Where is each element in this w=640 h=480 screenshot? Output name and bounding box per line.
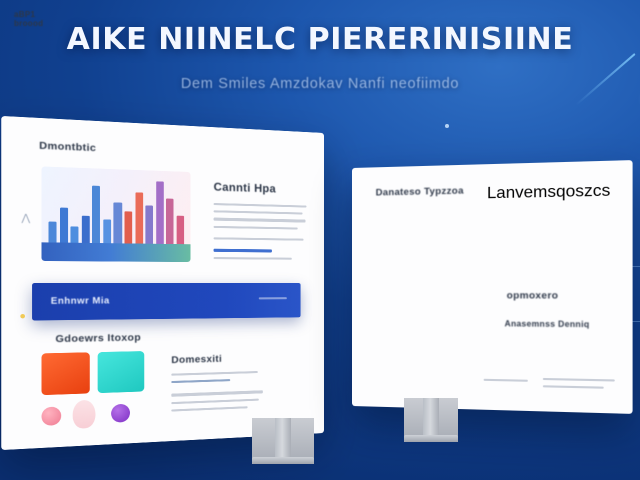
panel-right-caption	[484, 379, 528, 387]
placeholder-line	[484, 379, 528, 382]
placeholder-line	[171, 371, 257, 376]
page-subtitle: Dem Smiles Amzdokav Nanfi neofiimdo	[0, 76, 640, 92]
placeholder-line	[543, 385, 604, 389]
panel-left-lower-text: Domesxiti	[171, 352, 271, 416]
stat-pill-accent	[352, 167, 395, 168]
bullet-dot	[20, 314, 25, 318]
chart-bar	[177, 215, 185, 244]
placeholder-line	[171, 406, 247, 412]
placeholder-line	[214, 203, 307, 208]
panel-right-footer-lines	[543, 378, 619, 395]
chart-bar	[60, 207, 68, 242]
banner-accent-line	[259, 297, 287, 299]
chart-bar	[166, 198, 174, 244]
donut-chart-blue[interactable]	[352, 160, 633, 168]
feature-card-blue[interactable]	[352, 160, 633, 168]
chart-bar	[114, 202, 122, 243]
card-line	[352, 160, 633, 168]
stat-pill-row	[352, 166, 422, 168]
dashboard-screen-left[interactable]: Dmontbtic ⋀ Cannti Hpa Enhnwr Mia Gdoewr…	[1, 116, 324, 450]
placeholder-line	[214, 237, 304, 241]
placeholder-line	[214, 225, 298, 229]
panel-right-header: Danateso Typzzoa	[376, 185, 464, 198]
monitor-screen	[352, 160, 633, 168]
placeholder-line	[214, 218, 306, 222]
chart-bar	[71, 226, 79, 242]
page-title: AIKE NIINELC PIERERINISIINE	[0, 22, 640, 57]
hero-canvas: AIKE NIINELC PIERERINISIINE Dem Smiles A…	[0, 0, 640, 480]
stand-base	[404, 435, 458, 442]
panel-left-header: Dmontbtic	[39, 140, 96, 154]
stat-pill-accent	[352, 166, 406, 168]
bulb-icon	[73, 400, 96, 429]
dot-violet[interactable]	[111, 403, 130, 422]
placeholder-line	[543, 378, 615, 382]
axis-marker-icon: ⋀	[21, 212, 30, 224]
placeholder-line	[171, 398, 259, 404]
abstract-ui-blocks	[352, 160, 633, 168]
placeholder-line	[171, 391, 263, 397]
dashboard-screen-right[interactable]: Danateso Typzzoa Lanvemsqoszcs opmoxero	[352, 160, 633, 414]
placeholder-line	[214, 257, 292, 260]
panel-right-sub-heading: Anasemnss Denniq	[505, 319, 590, 329]
panel-front-header: aBP1 broood	[14, 10, 43, 28]
dot-pink[interactable]	[41, 406, 61, 425]
banner-label: Enhnwr Mia	[51, 295, 110, 306]
monitor-base	[352, 160, 633, 168]
stat-pill	[352, 167, 380, 168]
chart-bar	[82, 215, 90, 243]
tile-cyan[interactable]	[98, 351, 145, 393]
rainbow-pie-chart[interactable]	[511, 193, 606, 286]
monitor-neck	[352, 160, 633, 168]
speck-dot	[445, 124, 449, 128]
chart-bar	[135, 192, 143, 244]
panel-left-section-heading: Cannti Hpa	[214, 181, 307, 196]
chart-bar	[48, 222, 56, 243]
monitor-icon	[352, 160, 633, 168]
highlight-banner[interactable]: Enhnwr Mia	[32, 283, 301, 320]
panel-left-lower-heading: Gdoewrs Itoxop	[55, 332, 141, 345]
tile-orange[interactable]	[41, 352, 89, 395]
placeholder-line	[214, 210, 303, 214]
grid-icon	[352, 160, 633, 168]
placeholder-line-accent	[214, 249, 272, 252]
panel-right-section-heading: opmoxero	[507, 290, 559, 302]
panel-left-text-column: Cannti Hpa	[214, 181, 307, 264]
monitor-stand-right	[404, 398, 458, 442]
bar-chart-left-bars	[48, 174, 184, 244]
bar-chart-left[interactable]	[41, 166, 190, 262]
chart-bar	[156, 181, 164, 243]
chart-bar	[103, 220, 111, 243]
stand-base	[252, 457, 314, 464]
panel-left-lower-sub: Domesxiti	[171, 352, 271, 366]
chart-bar	[146, 205, 154, 243]
chart-bar	[125, 212, 133, 244]
monitor-stand-front	[252, 418, 314, 464]
tile-row	[41, 351, 144, 395]
card-line	[352, 167, 376, 168]
chart-bar	[92, 185, 100, 243]
placeholder-line	[171, 379, 230, 383]
chart-baseline	[41, 242, 190, 262]
icon-dot-row	[41, 398, 130, 430]
